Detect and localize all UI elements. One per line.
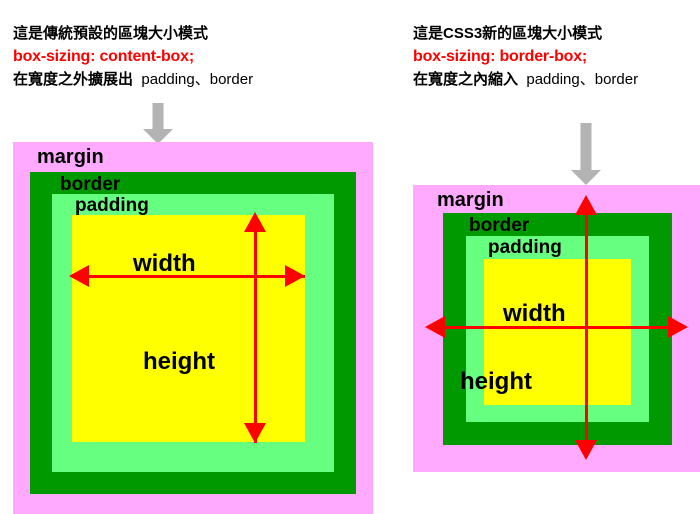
width-label-left: width [133, 252, 196, 276]
padding-label-right: padding [488, 238, 562, 257]
width-label-right: width [503, 302, 566, 326]
width-arrow-head-left-start [69, 265, 89, 287]
caption-line-1: 這是CSS3新的區塊大小模式 [413, 22, 638, 45]
width-arrow-head-right-start [425, 316, 445, 338]
arrow-shaft [153, 103, 164, 130]
caption-line-1: 這是傳統預設的區塊大小模式 [13, 22, 253, 45]
caption-line-3-cjk: 在寬度之內縮入 [413, 71, 518, 88]
width-arrow-head-right-end [668, 316, 688, 338]
height-arrow-head-right-start [575, 195, 597, 215]
height-arrow-line-left [254, 216, 257, 443]
caption-line-2-code: box-sizing: border-box; [413, 45, 638, 68]
caption-border-box: 這是CSS3新的區塊大小模式 box-sizing: border-box; 在… [413, 22, 638, 91]
height-arrow-head-left-end [244, 423, 266, 443]
border-box-left: border padding [30, 172, 356, 494]
border-label-right: border [469, 216, 529, 235]
padding-box-left: padding [52, 194, 334, 472]
height-label-left: height [143, 350, 215, 374]
border-label-left: border [60, 175, 120, 194]
height-label-right: height [460, 370, 532, 394]
diagram-canvas: 這是傳統預設的區塊大小模式 box-sizing: content-box; 在… [0, 0, 700, 514]
caption-line-2-code: box-sizing: content-box; [13, 45, 253, 68]
caption-line-3: 在寬度之外擴展出 padding、border [13, 68, 253, 91]
caption-line-3-latin: padding、border [526, 71, 638, 88]
caption-line-3-cjk: 在寬度之外擴展出 [13, 71, 133, 88]
border-box-right: border padding [443, 213, 672, 445]
arrow-head [571, 170, 601, 185]
arrow-down-icon-left [143, 103, 173, 143]
arrow-down-icon-right [571, 123, 601, 185]
caption-content-box: 這是傳統預設的區塊大小模式 box-sizing: content-box; 在… [13, 22, 253, 91]
width-arrow-head-left-end [285, 265, 305, 287]
height-arrow-head-right-end [575, 440, 597, 460]
padding-label-left: padding [75, 196, 149, 215]
caption-line-3-latin: padding、border [141, 71, 253, 88]
caption-line-3: 在寬度之內縮入 padding、border [413, 68, 638, 91]
height-arrow-line-right [585, 213, 588, 445]
arrow-shaft [581, 123, 592, 171]
margin-label-right: margin [437, 190, 504, 210]
margin-box-left: margin border padding width height [13, 142, 373, 514]
height-arrow-head-left-start [244, 212, 266, 232]
margin-box-right: margin border padding width height [413, 185, 700, 472]
margin-label-left: margin [37, 147, 104, 167]
